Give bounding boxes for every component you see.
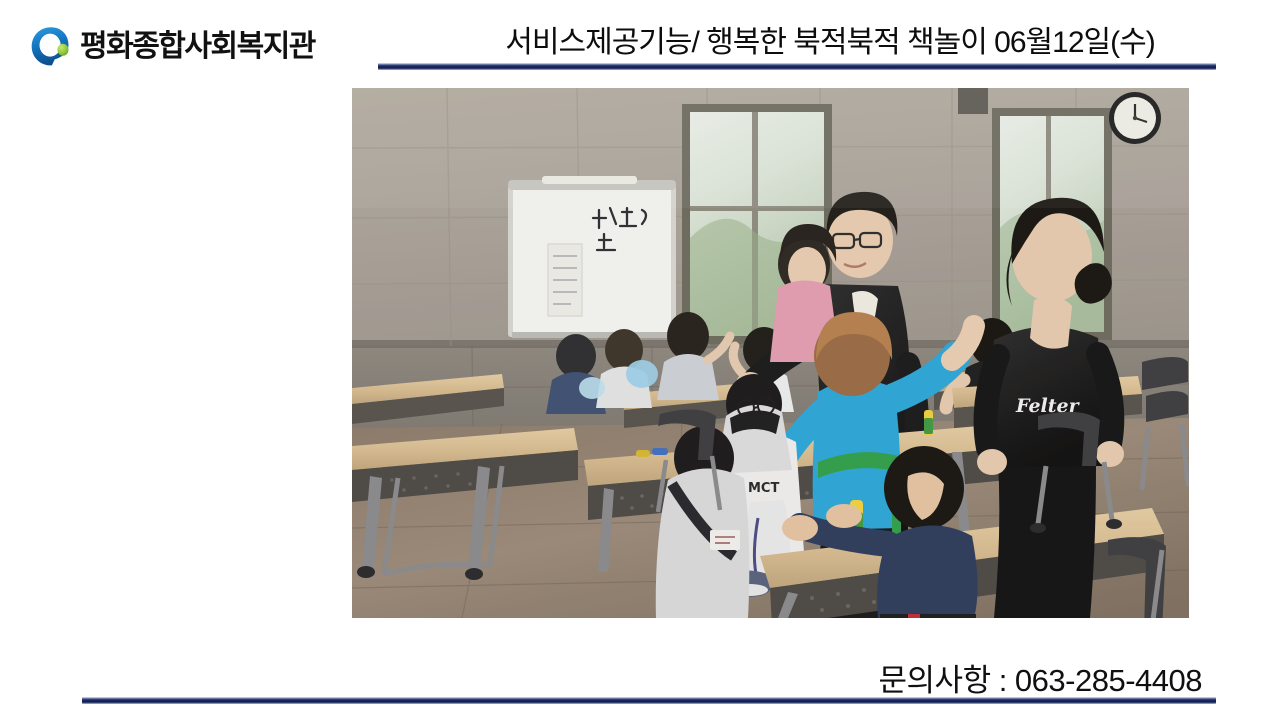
brand-name: 평화종합사회복지관	[80, 32, 315, 62]
contact-text: 문의사항 : 063-285-4408	[879, 655, 1202, 700]
activity-photo: MCT	[352, 88, 1189, 618]
slide-header: 평화종합사회복지관 서비스제공기능/ 행복한 북적북적 책놀이 06월12일(수…	[0, 0, 1280, 88]
circle-leaf-logo-icon	[28, 24, 74, 70]
page-title: 서비스제공기능/ 행복한 북적북적 책놀이 06월12일(수)	[430, 26, 1230, 61]
brand-lockup: 평화종합사회복지관	[28, 24, 315, 70]
footer-divider	[82, 697, 1216, 704]
activity-photo-image: MCT	[352, 88, 1189, 618]
header-divider	[378, 63, 1216, 70]
slide-root: 평화종합사회복지관 서비스제공기능/ 행복한 북적북적 책놀이 06월12일(수…	[0, 0, 1280, 720]
